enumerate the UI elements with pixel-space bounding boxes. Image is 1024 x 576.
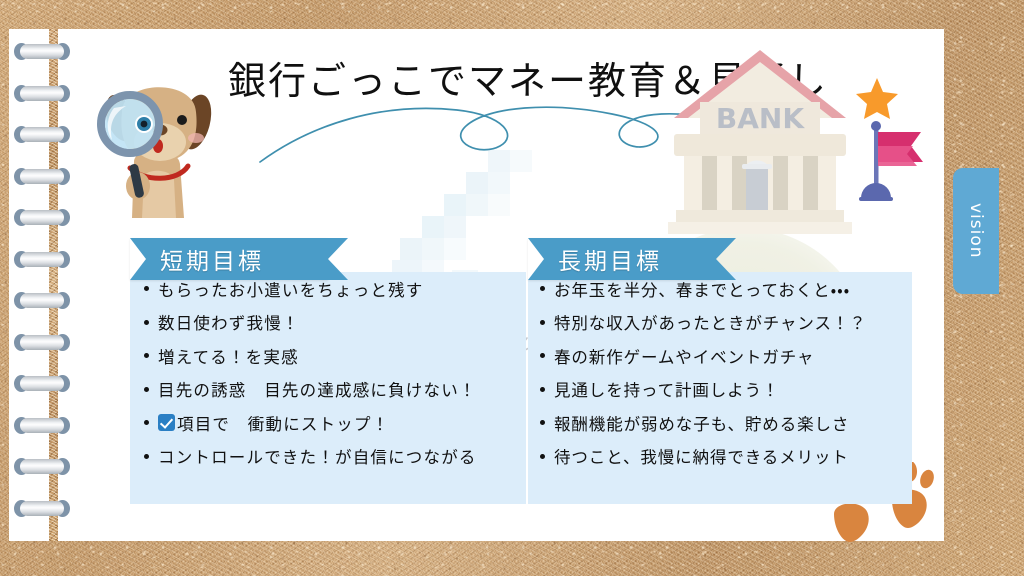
bullet-icon	[144, 387, 149, 392]
spiral-ring	[14, 209, 70, 226]
dog-with-magnifier-icon	[86, 50, 226, 220]
goal-list-item: 数日使わず我慢！	[130, 306, 526, 340]
spiral-ring	[14, 251, 70, 268]
goal-list-item: 待つこと、我慢に納得できるメリット	[528, 440, 912, 474]
short-term-goal-list: もらったお小遣いをちょっと残す数日使わず我慢！増えてる！を実感目先の誘惑 目先の…	[130, 272, 526, 473]
bank-sign-text: BANK	[716, 102, 805, 135]
goal-item-text: 目先の誘惑 目先の達成感に負けない！	[158, 377, 477, 401]
goal-item-text: 報酬機能が弱めな子も、貯める楽しさ	[554, 411, 849, 435]
spiral-ring	[14, 168, 70, 185]
spiral-ring	[14, 85, 70, 102]
long-term-banner-label: 長期目標	[558, 242, 662, 276]
spiral-ring	[14, 417, 70, 434]
vision-side-tab-label: vision	[966, 203, 986, 259]
goal-list-item: 報酬機能が弱めな子も、貯める楽しさ	[528, 406, 912, 440]
long-term-panel: お年玉を半分、春までとっておくと・・・特別な収入があったときがチャンス！？春の新…	[528, 272, 912, 504]
short-term-banner: 短期目標	[130, 238, 328, 280]
goal-item-text: 特別な収入があったときがチャンス！？	[554, 310, 867, 334]
spiral-ring	[14, 126, 70, 143]
goal-item-text: 数日使わず我慢！	[158, 310, 300, 334]
long-term-banner: 長期目標	[528, 238, 716, 280]
goal-list-item: 増えてる！を実感	[130, 339, 526, 373]
goal-list-item: 目先の誘惑 目先の達成感に負けない！	[130, 373, 526, 407]
goal-item-text: 項目で 衝動にストップ！	[177, 411, 389, 435]
goal-item-text: 見通しを持って計画しよう！	[554, 377, 779, 401]
bullet-icon	[144, 420, 149, 425]
spiral-ring	[14, 500, 70, 517]
long-term-goal-list: お年玉を半分、春までとっておくと・・・特別な収入があったときがチャンス！？春の新…	[528, 272, 912, 473]
bullet-icon	[540, 387, 545, 392]
star-icon	[856, 78, 898, 119]
goal-item-text: お年玉を半分、春までとっておくと・・・	[554, 277, 850, 301]
spiral-ring	[14, 292, 70, 309]
spiral-ring	[14, 334, 70, 351]
bullet-icon	[144, 454, 149, 459]
goal-item-text: 増えてる！を実感	[158, 344, 299, 368]
short-term-panel: もらったお小遣いをちょっと残す数日使わず我慢！増えてる！を実感目先の誘惑 目先の…	[130, 272, 526, 504]
flag-pole-icon	[855, 76, 925, 216]
goal-list-item: 特別な収入があったときがチャンス！？	[528, 306, 912, 340]
goal-item-text: 春の新作ゲームやイベントガチャ	[554, 344, 814, 368]
spiral-ring	[14, 375, 70, 392]
bullet-icon	[540, 454, 545, 459]
bullet-icon	[144, 320, 149, 325]
bullet-icon	[540, 420, 545, 425]
spiral-ring	[14, 43, 70, 60]
checkbox-checked-icon[interactable]	[158, 414, 175, 431]
bullet-icon	[540, 353, 545, 358]
bullet-icon	[144, 353, 149, 358]
goal-list-item: 春の新作ゲームやイベントガチャ	[528, 339, 912, 373]
spiral-ring	[14, 458, 70, 475]
short-term-banner-label: 短期目標	[160, 242, 264, 276]
goal-item-text: コントロールできた！が自信につながる	[158, 444, 477, 468]
goal-list-item: 見通しを持って計画しよう！	[528, 373, 912, 407]
goal-list-item: 項目で 衝動にストップ！	[130, 406, 526, 440]
bullet-icon	[540, 320, 545, 325]
bank-building-icon: BANK	[660, 46, 860, 246]
goal-item-text: もらったお小遣いをちょっと残す	[158, 277, 424, 301]
spiral-binding-rings	[8, 29, 70, 541]
goal-list-item: コントロールできた！が自信につながる	[130, 440, 526, 474]
bullet-icon	[144, 286, 149, 291]
goal-item-text: 待つこと、我慢に納得できるメリット	[554, 444, 849, 468]
bullet-icon	[540, 286, 545, 291]
vision-side-tab[interactable]: vision	[953, 168, 999, 294]
